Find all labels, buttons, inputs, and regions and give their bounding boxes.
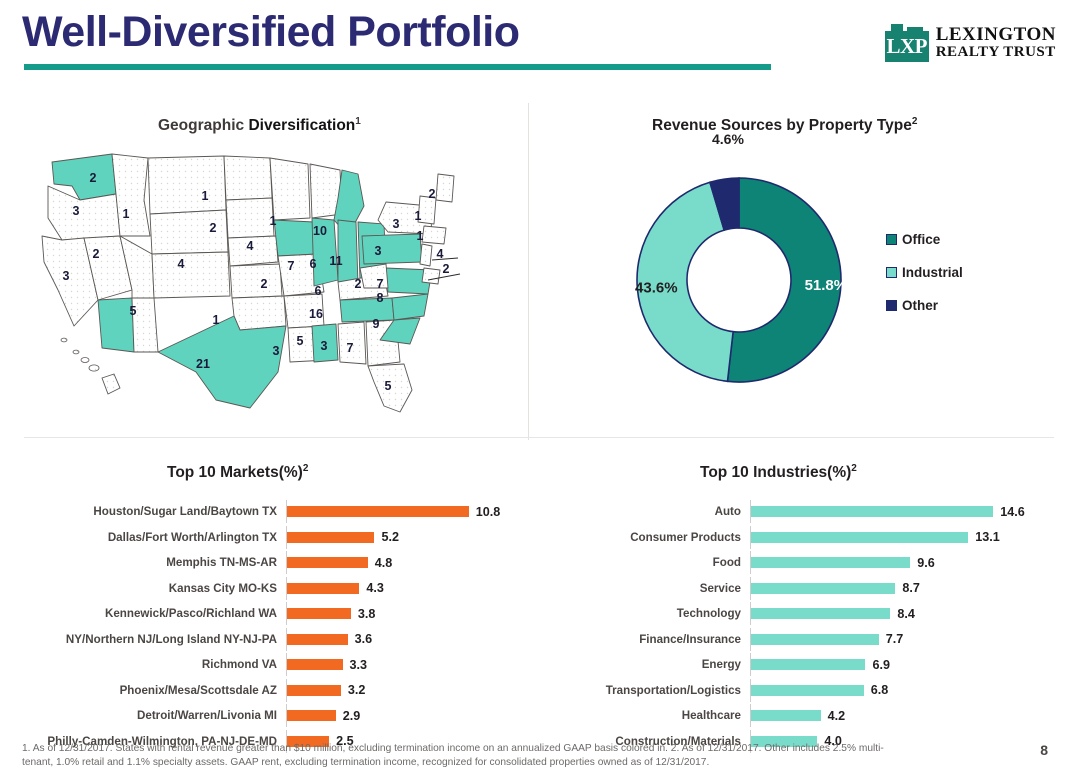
bar-row: Service8.7 [578,577,1058,600]
map-state-ia [274,220,316,256]
bar-value-label: 5.2 [381,530,399,544]
map-state-value-va: 7 [377,277,384,291]
bar-fill [751,608,890,619]
map-state-value-md-de: 2 [443,262,450,276]
bar-value-label: 4.2 [828,709,846,723]
bar-value-label: 4.8 [375,556,393,570]
map-state-nj [420,244,432,266]
logo-line-1: LEXINGTON [936,25,1056,45]
logo-wordmark: LEXINGTON REALTY TRUST [936,25,1056,60]
bar-track: 6.8 [750,679,1050,702]
map-state-value-nj: 4 [437,247,444,261]
horizontal-divider [24,437,1054,438]
bar-value-label: 6.9 [872,658,890,672]
bar-row: Auto14.6 [578,500,1058,523]
bar-value-label: 3.3 [350,658,368,672]
map-state-value-wi: 1 [270,214,277,228]
bar-category-label: Food [578,556,750,569]
map-state-value-tx: 21 [196,357,210,371]
us-choropleth-map: 2313254124211235375981661761110273321142 [28,140,508,425]
footnote-text: 1. As of 12/31/2017. States with rental … [22,742,902,771]
map-state-hi [81,358,89,363]
map-state-value-me: 2 [429,187,436,201]
bar-track: 5.2 [286,526,514,549]
logo-line-2: REALTY TRUST [936,45,1056,61]
revenue-title-text: Revenue Sources by Property Type [652,117,912,134]
bar-category-label: Phoenix/Mesa/Scottsdale AZ [8,684,286,697]
map-state-value-or: 3 [73,204,80,218]
legend-label: Office [902,232,940,247]
bar-value-label: 8.7 [902,581,920,595]
legend-item-other[interactable]: Other [886,298,963,313]
bar-row: Richmond VA3.3 [8,653,518,676]
industries-title-footnote-mark: 2 [851,463,857,474]
map-state-hi-big [102,374,120,394]
map-state-value-il: 7 [288,259,295,273]
bar-track: 3.6 [286,628,514,651]
bar-fill [751,532,968,543]
bar-fill [751,634,879,645]
map-state-mn [270,158,310,220]
slide: Well-Diversified Portfolio LXP LEXINGTON… [0,0,1070,782]
geographic-section-title: Geographic Diversification1 [158,116,361,135]
page-title: Well-Diversified Portfolio [22,8,520,57]
bar-category-label: NY/Northern NJ/Long Island NY-NJ-PA [8,633,286,646]
map-state-ok [232,296,286,330]
map-state-nc [392,294,428,320]
bar-fill [287,659,343,670]
bar-value-label: 4.3 [366,581,384,595]
bar-row: Detroit/Warren/Livonia MI2.9 [8,704,518,727]
lxp-logo-icon: LXP [885,24,929,62]
bar-value-label: 9.6 [917,556,935,570]
bar-track: 14.6 [750,500,1050,523]
bar-category-label: Kansas City MO-KS [8,582,286,595]
company-logo: LXP LEXINGTON REALTY TRUST [885,24,1056,62]
bar-fill [287,608,351,619]
bar-value-label: 13.1 [975,530,1000,544]
geo-title-footnote-mark: 1 [355,116,361,127]
bar-row: NY/Northern NJ/Long Island NY-NJ-PA3.6 [8,628,518,651]
bar-fill [751,710,821,721]
map-state-value-fl: 5 [385,379,392,393]
map-state-value-oh: 11 [329,254,342,268]
revenue-title-footnote-mark: 2 [912,116,918,127]
map-state-value-mi: 10 [313,224,327,238]
bar-category-label: Detroit/Warren/Livonia MI [8,709,286,722]
bar-fill [751,557,910,568]
bar-track: 10.8 [286,500,514,523]
map-state-value-ia: 4 [247,239,254,253]
bar-fill [287,557,368,568]
geo-title-light: Geographic [158,117,248,134]
top-industries-bar-chart: Auto14.6Consumer Products13.1Food9.6Serv… [578,500,1058,755]
bar-value-label: 3.6 [355,632,373,646]
map-state-value-sc: 9 [373,317,380,331]
bar-fill [287,685,341,696]
map-state-value-id: 1 [123,207,130,221]
map-state-value-ga: 7 [347,341,354,355]
map-state-value-ms: 5 [297,334,304,348]
bar-value-label: 2.9 [343,709,361,723]
map-state-nd [224,156,272,200]
markets-title-footnote-mark: 2 [303,463,309,474]
map-state-hi [89,365,99,371]
map-state-value-wa: 2 [90,171,97,185]
bar-track: 8.7 [750,577,1050,600]
revenue-donut-chart: 51.8%43.6% [614,155,864,405]
map-state-value-nv: 2 [93,247,100,261]
bar-fill [287,583,359,594]
legend-swatch-icon [886,234,897,245]
bar-fill [287,634,348,645]
map-state-value-mo: 2 [261,277,268,291]
bar-track: 6.9 [750,653,1050,676]
bar-fill [287,710,336,721]
map-state-value-ma-ct: 1 [417,229,424,243]
bar-track: 4.8 [286,551,514,574]
bar-fill [287,506,469,517]
map-state-pa [362,234,422,264]
industries-title-text: Top 10 Industries(%) [700,464,851,481]
bar-row: Technology8.4 [578,602,1058,625]
bar-value-label: 6.8 [871,683,889,697]
bar-category-label: Healthcare [578,709,750,722]
bar-category-label: Kennewick/Pasco/Richland WA [8,607,286,620]
bar-category-label: Memphis TN-MS-AR [8,556,286,569]
map-state-value-ca: 3 [63,269,70,283]
map-state-value-la: 3 [273,344,280,358]
donut-value-label: 51.8% [805,277,848,294]
bar-row: Food9.6 [578,551,1058,574]
bar-value-label: 7.7 [886,632,904,646]
map-state-mdde [422,268,440,284]
map-state-value-nc: 8 [377,291,384,305]
bar-category-label: Technology [578,607,750,620]
legend-item-industrial[interactable]: Industrial [886,265,963,280]
legend-swatch-icon [886,300,897,311]
bar-track: 8.4 [750,602,1050,625]
bar-row: Kennewick/Pasco/Richland WA3.8 [8,602,518,625]
map-state-hi [73,350,79,354]
donut-other-label: 4.6% [712,131,744,147]
map-state-value-pa: 3 [375,244,382,258]
legend-swatch-icon [886,267,897,278]
page-number: 8 [1040,742,1048,758]
bar-category-label: Consumer Products [578,531,750,544]
bar-row: Houston/Sugar Land/Baytown TX10.8 [8,500,518,523]
bar-category-label: Finance/Insurance [578,633,750,646]
bar-value-label: 8.4 [897,607,915,621]
bar-category-label: Richmond VA [8,658,286,671]
bar-track: 3.2 [286,679,514,702]
bar-track: 3.3 [286,653,514,676]
bar-row: Memphis TN-MS-AR4.8 [8,551,518,574]
bar-fill [751,685,864,696]
map-state-value-in: 6 [310,257,317,271]
bar-row: Transportation/Logistics6.8 [578,679,1058,702]
legend-label: Other [902,298,938,313]
bar-category-label: Energy [578,658,750,671]
map-state-value-al: 3 [321,339,328,353]
markets-title-text: Top 10 Markets(%) [167,464,303,481]
map-state-value-az: 5 [130,304,137,318]
bar-row: Finance/Insurance7.7 [578,628,1058,651]
bar-category-label: Dallas/Fort Worth/Arlington TX [8,531,286,544]
legend-label: Industrial [902,265,963,280]
revenue-section-title: Revenue Sources by Property Type2 [652,116,917,135]
legend-item-office[interactable]: Office [886,232,963,247]
bar-row: Healthcare4.2 [578,704,1058,727]
map-state-value-nd: 1 [202,189,209,203]
bar-fill [751,583,895,594]
bar-value-label: 14.6 [1000,505,1025,519]
geo-title-bold: Diversification [248,117,355,134]
map-state-value-co: 4 [178,257,185,271]
bar-fill [751,659,865,670]
map-state-mt [148,156,226,214]
bar-track: 13.1 [750,526,1050,549]
bar-value-label: 3.2 [348,683,366,697]
map-state-value-wv: 2 [355,277,362,291]
bar-value-label: 3.8 [358,607,376,621]
vertical-divider [528,103,529,440]
map-state-value-tn: 16 [309,307,323,321]
bar-row: Kansas City MO-KS4.3 [8,577,518,600]
map-state-me [436,174,454,202]
logo-mark-text: LXP [885,31,929,62]
map-state-in [338,220,358,284]
bar-track: 2.9 [286,704,514,727]
map-state-hi [61,338,67,342]
map-state-value-ny: 3 [393,217,400,231]
title-underline-rule [24,64,771,70]
map-state-sd [226,198,274,238]
top-markets-bar-chart: Houston/Sugar Land/Baytown TX10.8Dallas/… [8,500,518,755]
bar-track: 9.6 [750,551,1050,574]
bar-row: Dallas/Fort Worth/Arlington TX5.2 [8,526,518,549]
bar-category-label: Houston/Sugar Land/Baytown TX [8,505,286,518]
map-state-ks [230,264,282,298]
map-state-tx [158,316,286,408]
map-state-value-vt-nh: 1 [415,209,422,223]
map-state-value-sd: 2 [210,221,217,235]
bar-track: 4.2 [750,704,1050,727]
bar-row: Consumer Products13.1 [578,526,1058,549]
bar-row: Energy6.9 [578,653,1058,676]
bar-row: Phoenix/Mesa/Scottsdale AZ3.2 [8,679,518,702]
donut-value-label: 43.6% [635,279,678,296]
bar-track: 3.8 [286,602,514,625]
map-state-co [152,252,230,298]
bar-track: 7.7 [750,628,1050,651]
bar-category-label: Auto [578,505,750,518]
map-state-wv [360,264,388,288]
donut-legend: OfficeIndustrialOther [886,232,963,331]
map-state-mact [422,226,446,244]
industries-section-title: Top 10 Industries(%)2 [700,463,857,482]
map-state-value-ok: 1 [213,313,220,327]
markets-section-title: Top 10 Markets(%)2 [167,463,308,482]
bar-category-label: Service [578,582,750,595]
bar-fill [751,506,993,517]
bar-track: 4.3 [286,577,514,600]
map-state-tn [340,298,394,322]
map-state-value-ky: 6 [315,284,322,298]
bar-category-label: Transportation/Logistics [578,684,750,697]
bar-value-label: 10.8 [476,505,501,519]
bar-fill [287,532,374,543]
